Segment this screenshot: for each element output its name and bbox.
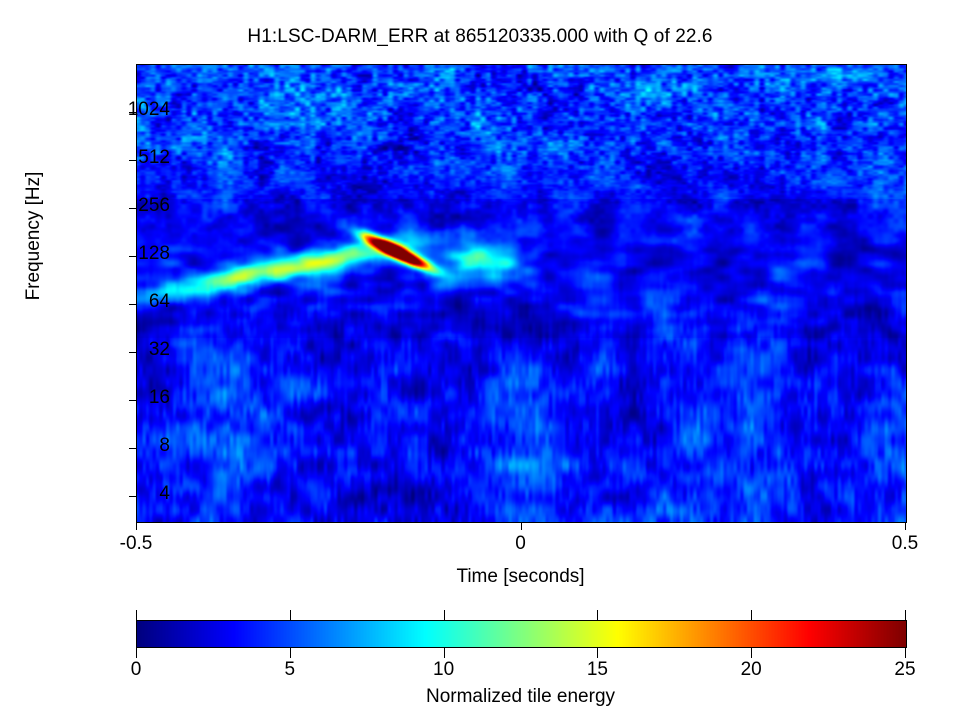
y-tick-label-64: 64 — [60, 291, 170, 313]
x-tick-label-0.5: 0.5 — [845, 533, 960, 555]
x-tick-label-0: 0 — [461, 533, 581, 555]
y-axis-title: Frequency [Hz] — [23, 106, 45, 366]
figure-canvas: H1:LSC-DARM_ERR at 865120335.000 with Q … — [0, 0, 960, 721]
colorbar — [136, 620, 907, 648]
x-tick-0.5 — [905, 522, 906, 530]
colorbar-tick-label-25: 25 — [845, 659, 960, 681]
colorbar-tick-top-10 — [444, 610, 445, 620]
colorbar-gradient — [137, 621, 906, 647]
spectrogram-heatmap — [137, 65, 906, 522]
y-tick-label-256: 256 — [60, 195, 170, 217]
colorbar-tick-top-25 — [905, 610, 906, 620]
x-tick--0.5 — [136, 522, 137, 530]
y-tick-label-4: 4 — [60, 483, 170, 505]
colorbar-tick-bottom-5 — [290, 648, 291, 658]
y-tick-label-32: 32 — [60, 339, 170, 361]
colorbar-tick-top-0 — [136, 610, 137, 620]
colorbar-tick-label-0: 0 — [76, 659, 196, 681]
y-tick-label-16: 16 — [60, 387, 170, 409]
x-axis-title: Time [seconds] — [136, 566, 905, 588]
colorbar-tick-bottom-10 — [444, 648, 445, 658]
colorbar-tick-top-15 — [597, 610, 598, 620]
colorbar-tick-bottom-25 — [905, 648, 906, 658]
colorbar-tick-bottom-0 — [136, 648, 137, 658]
spectrogram-image — [137, 65, 906, 522]
spectrogram-axes — [136, 64, 907, 523]
x-tick-label--0.5: -0.5 — [76, 533, 196, 555]
x-tick-0 — [521, 522, 522, 530]
y-tick-label-1024: 1024 — [60, 99, 170, 121]
colorbar-tick-bottom-15 — [597, 648, 598, 658]
colorbar-title: Normalized tile energy — [136, 686, 905, 708]
colorbar-tick-top-20 — [751, 610, 752, 620]
colorbar-tick-label-20: 20 — [691, 659, 811, 681]
colorbar-tick-label-5: 5 — [230, 659, 350, 681]
y-tick-label-512: 512 — [60, 147, 170, 169]
colorbar-tick-bottom-20 — [751, 648, 752, 658]
colorbar-tick-top-5 — [290, 610, 291, 620]
colorbar-tick-label-10: 10 — [384, 659, 504, 681]
y-tick-label-128: 128 — [60, 243, 170, 265]
y-tick-label-8: 8 — [60, 435, 170, 457]
figure-title: H1:LSC-DARM_ERR at 865120335.000 with Q … — [0, 26, 960, 48]
colorbar-tick-label-15: 15 — [537, 659, 657, 681]
